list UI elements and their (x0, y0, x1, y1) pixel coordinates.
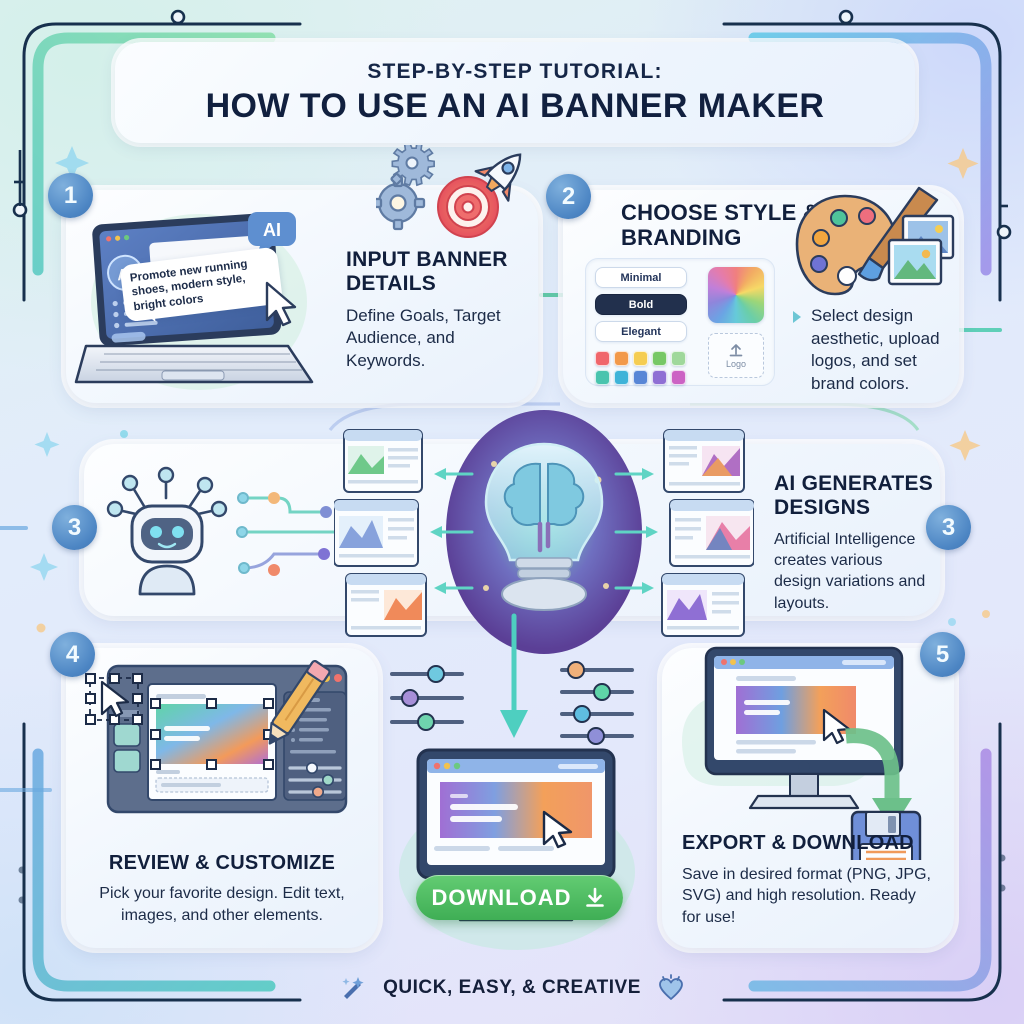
step-badge-4: 4 (50, 632, 95, 677)
step-3-text-block: AI Generates Designs Artificial Intellig… (774, 472, 934, 614)
cursor-icon (262, 280, 302, 328)
design-card-icon (334, 500, 418, 566)
header-kicker: Step-by-Step Tutorial: (367, 60, 662, 83)
download-button-label: Download (432, 885, 572, 911)
footer-text: Quick, Easy, & Creative (383, 977, 641, 999)
step-3-description: Artificial Intelligence creates various … (774, 529, 934, 614)
swatch-r1-c2[interactable] (614, 351, 629, 366)
step-2-description-wrap: Select design aesthetic, upload logos, a… (791, 305, 956, 395)
chevron-right-icon (791, 309, 804, 325)
style-option-bold[interactable]: Bold (595, 294, 687, 315)
step-badge-3-right: 3 (926, 505, 971, 550)
swatch-r1-c5[interactable] (671, 351, 686, 366)
step-2-description: Select design aesthetic, upload logos, a… (811, 305, 956, 395)
page-title: How to Use an AI Banner Maker (206, 87, 825, 125)
step-badge-2: 2 (546, 174, 591, 219)
step-card-1[interactable]: AI AI (66, 190, 538, 403)
header-card: Step-by-Step Tutorial: How to Use an AI … (115, 42, 915, 143)
svg-text:AI: AI (263, 220, 281, 240)
step-badge-1: 1 (48, 173, 93, 218)
design-card-icon (664, 430, 744, 492)
step-4-heading: Review & Customize (84, 852, 360, 875)
download-arrow-icon (583, 886, 607, 910)
gears-target-rocket-icons (376, 145, 536, 255)
step-1-heading: Input Banner Details (346, 248, 526, 296)
step-1-text-block: Input Banner Details Define Goals, Targe… (346, 248, 526, 373)
step-5-description: Save in desired format (PNG, JPG, SVG) a… (682, 864, 932, 928)
slider-icon (418, 714, 434, 730)
downward-flow-arrow-icon (494, 612, 534, 742)
style-option-elegant[interactable]: Elegant (595, 321, 687, 342)
swatch-r2-c4[interactable] (652, 370, 667, 385)
step-card-4[interactable]: Review & Customize Pick your favorite de… (66, 648, 378, 948)
design-card-icon (662, 574, 744, 636)
download-button[interactable]: Download (416, 875, 623, 920)
step-badge-3-left: 3 (52, 505, 97, 550)
step-3-heading: AI Generates Designs (774, 472, 934, 520)
step-5-heading: Export & Download (682, 832, 932, 855)
step-4-description: Pick your favorite design. Edit text, im… (84, 883, 360, 926)
swatch-r2-c3[interactable] (633, 370, 648, 385)
logo-upload-label: Logo (726, 359, 746, 369)
slider-icon (402, 690, 418, 706)
style-options-panel[interactable]: Minimal Bold Elegant (585, 258, 775, 386)
slider-icon (568, 662, 584, 678)
footer: Quick, Easy, & Creative (0, 974, 1024, 1002)
swatch-r1-c4[interactable] (652, 351, 667, 366)
swatch-r1-c3[interactable] (633, 351, 648, 366)
style-option-minimal[interactable]: Minimal (595, 267, 687, 288)
swatch-r1-c1[interactable] (595, 351, 610, 366)
style-pill-list[interactable]: Minimal Bold Elegant (595, 267, 687, 342)
swatch-r2-c2[interactable] (614, 370, 629, 385)
step-card-5[interactable]: Export & Download Save in desired format… (662, 648, 954, 948)
slider-icon (428, 666, 444, 682)
palette-and-images-illustration (791, 184, 961, 304)
step-card-3[interactable]: AI Generates Designs Artificial Intellig… (84, 444, 940, 616)
monitor-illustration (674, 640, 942, 860)
magic-wand-icon (339, 974, 367, 1002)
upload-icon (728, 342, 744, 358)
color-wheel-picker[interactable] (708, 267, 764, 323)
download-monitor-illustration (392, 742, 642, 957)
swatch-r2-c5[interactable] (671, 370, 686, 385)
step-badge-5: 5 (920, 632, 965, 677)
infographic-canvas: Step-by-Step Tutorial: How to Use an AI … (0, 0, 1024, 1024)
design-card-icon (344, 430, 422, 492)
robot-icon (102, 462, 232, 597)
step-1-description: Define Goals, Target Audience, and Keywo… (346, 305, 526, 373)
sparkle-heart-icon (657, 974, 685, 1002)
slider-icon (594, 684, 610, 700)
slider-icon (574, 706, 590, 722)
image-icon (889, 240, 941, 284)
design-card-icon (670, 500, 754, 566)
editor-window-icon (78, 652, 370, 842)
design-card-icon (346, 574, 426, 636)
swatch-r2-c1[interactable] (595, 370, 610, 385)
step-5-text-block: Export & Download Save in desired format… (682, 832, 932, 928)
logo-upload-dropzone[interactable]: Logo (708, 333, 764, 378)
step-4-text-block: Review & Customize Pick your favorite de… (84, 852, 360, 926)
design-card-group (334, 408, 754, 658)
step-card-2[interactable]: Choose Style & Branding Minimal Bold Ele… (563, 190, 959, 403)
